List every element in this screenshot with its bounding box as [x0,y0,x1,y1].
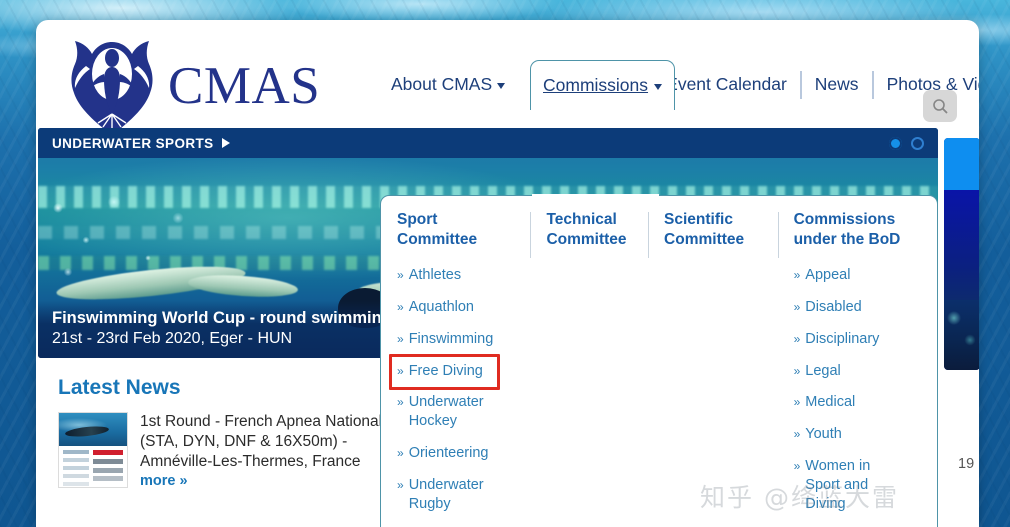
latest-news-heading: Latest News [58,376,181,400]
chevron-right-icon: » [397,362,404,380]
chevron-right-icon: » [397,298,404,316]
carousel-dot-active[interactable] [889,137,902,150]
chevron-right-icon: » [794,266,801,284]
menu-link-finswimming[interactable]: » Finswimming [397,330,518,349]
hero-category-bar: UNDERWATER SPORTS [38,128,938,158]
nav-item-about-cmas[interactable]: About CMAS [378,71,518,99]
menu-link-disciplinary[interactable]: » Disciplinary [794,330,925,349]
menu-link-label: Orienteering [409,444,489,463]
chevron-right-icon: » [794,425,801,443]
nav-item-label: Event Calendar [666,76,787,94]
news-thumbnail[interactable] [58,412,128,488]
menu-link-athletes[interactable]: » Athletes [397,266,518,285]
nav-item-label: About CMAS [391,76,492,94]
chevron-right-icon: » [397,266,404,284]
cmas-emblem-icon [60,30,164,138]
dropdown-column-sport-committee: Sport Committee » Athletes » Aquathlon »… [381,210,530,527]
menu-link-medical[interactable]: » Medical [794,393,925,412]
chevron-right-icon: » [794,393,801,411]
side-advert-banner[interactable] [944,138,979,370]
hero-category-label: UNDERWATER SPORTS [52,136,214,151]
column-title: Scientific Committee [664,210,766,252]
site-header: CMAS About CMAS Event Calendar News [36,20,979,128]
chevron-right-icon: » [794,298,801,316]
news-more-link[interactable]: more » [140,473,418,489]
site-logo[interactable]: CMAS [60,30,320,138]
menu-link-underwater-hockey[interactable]: » Underwater Hockey [397,393,518,431]
menu-link-label: Athletes [409,266,461,285]
zhihu-watermark: 知乎 @绛蓝大雷 [700,478,899,514]
search-button[interactable] [923,90,957,122]
menu-link-label: Legal [805,362,840,381]
nav-item-commissions[interactable]: Commissions [530,60,675,110]
news-date-partial: 19 [958,456,974,472]
menu-link-label: Underwater Hockey [409,393,519,431]
menu-link-label: Free Diving [409,362,483,381]
chevron-down-icon [497,83,505,89]
chevron-right-icon: » [397,393,404,411]
chevron-right-icon: » [794,330,801,348]
news-item[interactable]: 1st Round - French Apnea National Cup (S… [58,412,418,489]
news-headline[interactable]: 1st Round - French Apnea National Cup (S… [140,412,418,471]
dropdown-column-technical-committee: Technical Committee [530,210,648,527]
carousel-dot-inactive[interactable] [911,137,924,150]
brand-text: CMAS [168,60,320,113]
menu-link-youth[interactable]: » Youth [794,425,925,444]
chevron-down-icon [654,84,662,90]
menu-link-appeal[interactable]: » Appeal [794,266,925,285]
column-title: Sport Committee [397,210,518,252]
chevron-right-icon: » [794,362,801,380]
menu-link-orienteering[interactable]: » Orienteering [397,444,518,463]
nav-item-label: Commissions [543,75,648,96]
menu-link-label: Youth [805,425,842,444]
play-arrow-icon [222,138,230,148]
menu-link-legal[interactable]: » Legal [794,362,925,381]
search-icon [932,98,949,115]
menu-link-disabled[interactable]: » Disabled [794,298,925,317]
column-title: Technical Committee [546,210,636,252]
menu-link-label: Underwater Rugby [409,476,519,514]
chevron-right-icon: » [397,476,404,494]
menu-link-label: Disabled [805,298,861,317]
menu-link-label: Disciplinary [805,330,879,349]
menu-link-label: Finswimming [409,330,494,349]
menu-link-underwater-rugby[interactable]: » Underwater Rugby [397,476,518,514]
menu-link-label: Appeal [805,266,850,285]
menu-link-aquathlon[interactable]: » Aquathlon [397,298,518,317]
menu-link-label: Aquathlon [409,298,474,317]
chevron-right-icon: » [397,330,404,348]
carousel-dots[interactable] [889,137,924,150]
page-container: CMAS About CMAS Event Calendar News [36,20,979,527]
nav-item-label: News [815,76,859,94]
menu-link-free-diving[interactable]: » Free Diving [397,362,518,381]
nav-item-news[interactable]: News [801,71,872,99]
menu-link-label: Medical [805,393,855,412]
chevron-right-icon: » [794,457,801,475]
chevron-right-icon: » [397,444,404,462]
main-navigation[interactable]: About CMAS Event Calendar News Photos & … [378,62,979,108]
column-title: Commissions under the BoD [794,210,925,252]
